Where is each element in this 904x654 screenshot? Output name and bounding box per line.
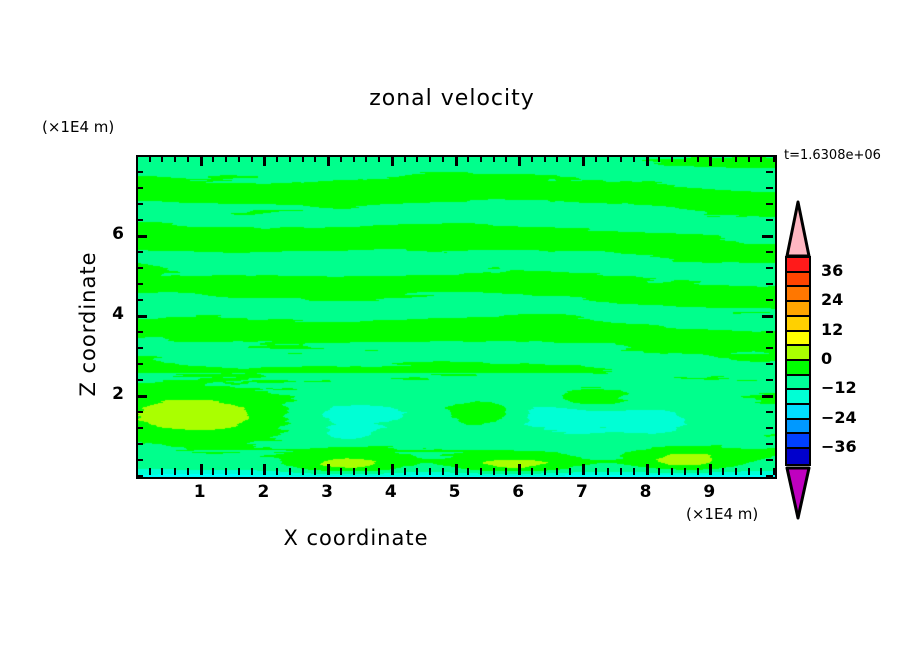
axis-tick: [518, 155, 521, 166]
axis-tick: [365, 468, 367, 475]
axis-tick: [658, 155, 660, 162]
axis-tick: [340, 468, 342, 475]
axis-tick: [766, 331, 773, 333]
axis-tick: [766, 475, 773, 477]
axis-tick: [225, 155, 227, 162]
axis-tick: [391, 155, 394, 166]
axis-tick: [212, 468, 214, 475]
axis-tick: [365, 155, 367, 162]
axis-tick: [595, 155, 597, 162]
axis-tick: [442, 155, 444, 162]
axis-tick: [766, 347, 773, 349]
axis-tick: [429, 155, 431, 162]
axis-tick: [302, 468, 304, 475]
axis-tick: [174, 468, 176, 475]
axis-tick: [136, 427, 143, 429]
axis-tick: [518, 464, 521, 475]
axis-tick: [136, 155, 143, 157]
axis-tick: [136, 331, 143, 333]
axis-tick: [531, 155, 533, 162]
axis-tick: [187, 155, 189, 162]
colorbar-tick-label: −36: [821, 437, 857, 456]
colorbar-tick-label: 24: [821, 290, 843, 309]
axis-tick: [149, 155, 151, 162]
axis-tick: [544, 468, 546, 475]
axis-tick: [684, 155, 686, 162]
axis-tick: [276, 468, 278, 475]
axis-tick: [766, 427, 773, 429]
axis-tick: [187, 468, 189, 475]
axis-tick: [251, 155, 253, 162]
axis-tick: [136, 379, 143, 381]
axis-tick: [607, 468, 609, 475]
axis-tick: [404, 468, 406, 475]
axis-tick: [416, 155, 418, 162]
x-tick-label: 1: [180, 482, 220, 502]
axis-tick: [766, 299, 773, 301]
axis-tick: [709, 155, 712, 166]
colorbar-band: [787, 390, 809, 405]
x-tick-label: 5: [435, 482, 475, 502]
axis-tick: [766, 203, 773, 205]
axis-tick: [773, 468, 775, 475]
axis-tick: [766, 411, 773, 413]
axis-tick: [766, 251, 773, 253]
axis-tick: [569, 155, 571, 162]
axis-tick: [762, 235, 773, 238]
axis-tick: [263, 155, 266, 166]
y-tick-label: 2: [90, 384, 124, 404]
axis-tick: [766, 363, 773, 365]
axis-tick: [760, 155, 762, 162]
axis-tick: [136, 299, 143, 301]
axis-tick: [762, 395, 773, 398]
axis-tick: [161, 468, 163, 475]
colorbar-band: [787, 405, 809, 420]
axis-tick: [302, 155, 304, 162]
x-tick-label: 6: [498, 482, 538, 502]
axis-tick: [136, 315, 147, 318]
axis-tick: [760, 468, 762, 475]
axis-tick: [722, 155, 724, 162]
axis-tick: [136, 395, 147, 398]
axis-tick: [149, 468, 151, 475]
axis-tick: [766, 155, 773, 157]
axis-tick: [200, 464, 203, 475]
colorbar-band: [787, 434, 809, 449]
colorbar-band: [787, 287, 809, 302]
y-axis-unit-label: (×1E4 m): [42, 118, 114, 136]
axis-tick: [225, 468, 227, 475]
axis-tick: [544, 155, 546, 162]
axis-tick: [416, 468, 418, 475]
axis-tick: [136, 203, 143, 205]
colorbar-band: [787, 317, 809, 332]
axis-tick: [722, 468, 724, 475]
axis-tick: [684, 468, 686, 475]
x-tick-label: 9: [689, 482, 729, 502]
axis-tick: [136, 363, 143, 365]
axis-tick: [136, 411, 143, 413]
axis-tick: [251, 468, 253, 475]
axis-tick: [633, 468, 635, 475]
axis-tick: [748, 155, 750, 162]
axis-tick: [766, 459, 773, 461]
contour-field-canvas: [138, 157, 775, 477]
axis-tick: [314, 155, 316, 162]
axis-tick: [658, 468, 660, 475]
axis-tick: [762, 315, 773, 318]
axis-tick: [582, 155, 585, 166]
axis-tick: [289, 468, 291, 475]
axis-tick: [391, 464, 394, 475]
x-tick-label: 2: [243, 482, 283, 502]
axis-tick: [697, 468, 699, 475]
colorbar-tick-label: 12: [821, 320, 843, 339]
axis-tick: [633, 155, 635, 162]
axis-tick: [353, 155, 355, 162]
axis-tick: [404, 155, 406, 162]
axis-tick: [480, 468, 482, 475]
axis-tick: [735, 468, 737, 475]
axis-tick: [136, 251, 143, 253]
colorbar-tick-label: −24: [821, 408, 857, 427]
axis-tick: [327, 464, 330, 475]
x-tick-label: 4: [371, 482, 411, 502]
axis-tick: [353, 468, 355, 475]
axis-tick: [766, 267, 773, 269]
axis-tick: [136, 443, 143, 445]
colorbar-tick-label: −12: [821, 378, 857, 397]
colorbar-band: [787, 449, 809, 464]
colorbar-band: [787, 258, 809, 273]
axis-tick: [773, 155, 775, 162]
axis-tick: [671, 468, 673, 475]
colorbar-under-arrow-icon: [785, 466, 811, 520]
axis-tick: [556, 155, 558, 162]
axis-tick: [136, 187, 143, 189]
axis-tick: [212, 155, 214, 162]
axis-tick: [455, 155, 458, 166]
axis-tick: [493, 155, 495, 162]
axis-tick: [766, 443, 773, 445]
axis-tick: [493, 468, 495, 475]
colorbar-band: [787, 376, 809, 391]
colorbar-band: [787, 420, 809, 435]
axis-tick: [766, 171, 773, 173]
axis-tick: [136, 171, 143, 173]
axis-tick: [569, 468, 571, 475]
axis-tick: [646, 464, 649, 475]
axis-tick: [136, 267, 143, 269]
axis-tick: [136, 235, 147, 238]
colorbar-over-arrow-icon: [785, 200, 811, 258]
axis-tick: [766, 187, 773, 189]
axis-tick: [136, 347, 143, 349]
axis-tick: [556, 468, 558, 475]
axis-tick: [136, 459, 143, 461]
axis-tick: [467, 468, 469, 475]
axis-tick: [442, 468, 444, 475]
axis-tick: [161, 155, 163, 162]
x-tick-label: 3: [307, 482, 347, 502]
axis-tick: [429, 468, 431, 475]
axis-tick: [327, 155, 330, 166]
axis-tick: [671, 155, 673, 162]
axis-tick: [136, 283, 143, 285]
page-title: zonal velocity: [0, 86, 904, 111]
colorbar-band: [787, 302, 809, 317]
colorbar-band-stack: [785, 256, 811, 466]
y-tick-label: 6: [90, 224, 124, 244]
axis-tick: [276, 155, 278, 162]
axis-tick: [620, 155, 622, 162]
axis-tick: [505, 468, 507, 475]
y-tick-label: 4: [90, 304, 124, 324]
axis-tick: [136, 468, 138, 475]
axis-tick: [531, 468, 533, 475]
axis-tick: [263, 464, 266, 475]
axis-tick: [174, 155, 176, 162]
axis-tick: [595, 468, 597, 475]
axis-tick: [289, 155, 291, 162]
axis-tick: [766, 283, 773, 285]
x-axis-unit-label: (×1E4 m): [686, 505, 758, 523]
axis-tick: [748, 468, 750, 475]
axis-tick: [620, 468, 622, 475]
axis-tick: [200, 155, 203, 166]
axis-tick: [582, 464, 585, 475]
colorbar-band: [787, 361, 809, 376]
x-tick-label: 7: [562, 482, 602, 502]
axis-tick: [646, 155, 649, 166]
axis-tick: [607, 155, 609, 162]
axis-tick: [136, 475, 143, 477]
colorbar: 3624120−12−24−36: [779, 200, 813, 518]
axis-tick: [505, 155, 507, 162]
axis-tick: [455, 464, 458, 475]
colorbar-band: [787, 273, 809, 288]
axis-tick: [378, 155, 380, 162]
colorbar-band: [787, 346, 809, 361]
axis-tick: [238, 155, 240, 162]
x-tick-label: 8: [626, 482, 666, 502]
axis-tick: [735, 155, 737, 162]
axis-tick: [766, 219, 773, 221]
axis-tick: [314, 468, 316, 475]
axis-tick: [136, 219, 143, 221]
axis-tick: [766, 379, 773, 381]
axis-tick: [467, 155, 469, 162]
axis-tick: [340, 155, 342, 162]
axis-tick: [238, 468, 240, 475]
axis-tick: [480, 155, 482, 162]
x-axis-title: X coordinate: [0, 526, 712, 550]
colorbar-tick-label: 0: [821, 349, 832, 368]
axis-tick: [709, 464, 712, 475]
colorbar-tick-label: 36: [821, 261, 843, 280]
timestamp-annotation: t=1.6308e+06: [784, 148, 881, 163]
axis-tick: [378, 468, 380, 475]
axis-tick: [697, 155, 699, 162]
colorbar-band: [787, 332, 809, 347]
contour-plot-area: [136, 155, 777, 479]
